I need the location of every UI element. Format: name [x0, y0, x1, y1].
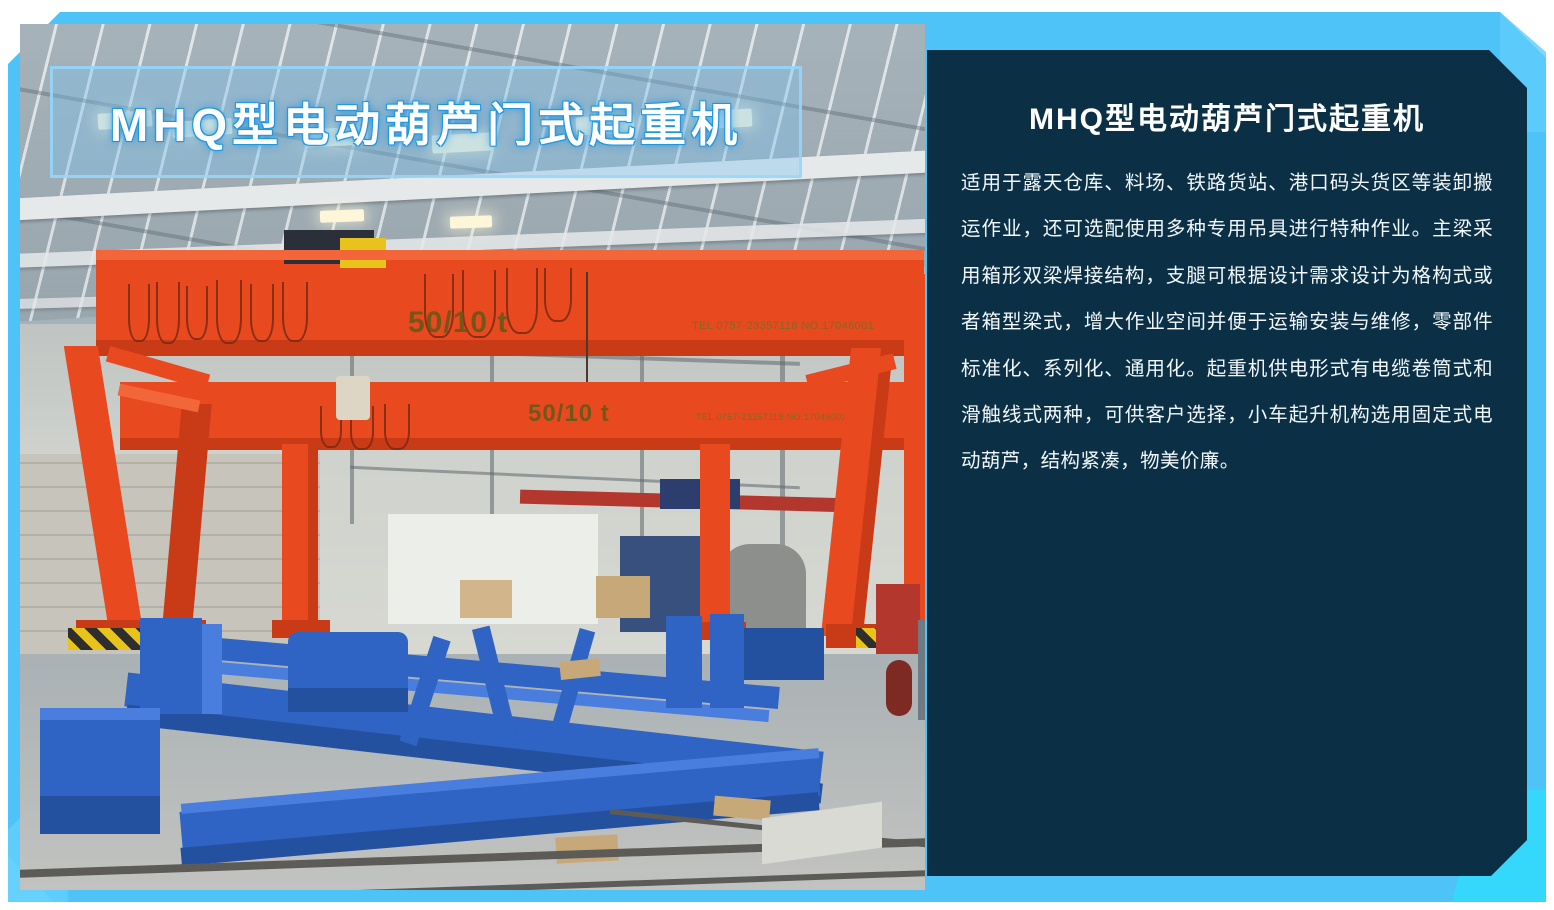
blue-plate-upright — [666, 616, 702, 708]
poster-canvas: 50/10 t TEL 0757-23357118 NO.17046001 50… — [0, 0, 1554, 910]
crane-capacity-label-lower: 50/10 t — [528, 400, 610, 428]
cardboard-box — [460, 580, 512, 618]
blue-plate-upright — [202, 624, 222, 714]
blue-beam-left-stack-top — [40, 708, 160, 720]
cardboard-box — [596, 576, 650, 618]
crane-chain — [186, 286, 208, 340]
ceiling-light — [450, 215, 492, 228]
blue-beam-left-stack-shade — [40, 796, 160, 834]
crane-leg-mid-left-shadow — [308, 444, 318, 626]
crane-chain — [384, 404, 410, 450]
blue-plate-upright-shade — [288, 688, 408, 712]
info-panel: MHQ型电动葫芦门式起重机 适用于露天仓库、料场、铁路货站、港口码头货区等装卸搬… — [927, 50, 1527, 876]
blue-plate-upright — [744, 628, 824, 680]
crane-girder-shadow-lower — [120, 438, 910, 450]
crane-chain — [250, 284, 274, 342]
crane-right-post — [904, 274, 925, 634]
photo-title-plate: MHQ型电动葫芦门式起重机 — [50, 66, 802, 178]
crane-chain — [216, 280, 242, 344]
panel-heading: MHQ型电动葫芦门式起重机 — [961, 94, 1493, 138]
crane-chain — [156, 282, 180, 344]
crane-hook-block — [336, 376, 370, 420]
photo-title-text: MHQ型电动葫芦门式起重机 — [110, 89, 742, 155]
info-panel-content: MHQ型电动葫芦门式起重机 适用于露天仓库、料场、铁路货站、港口码头货区等装卸搬… — [927, 50, 1527, 485]
crane-chain — [128, 284, 150, 342]
crane-chain — [544, 268, 572, 322]
crane-top-rail — [96, 250, 924, 260]
floor-equipment — [918, 620, 925, 720]
blue-plate-upright — [140, 618, 202, 714]
panel-body-text: 适用于露天仓库、料场、铁路货站、港口码头货区等装卸搬运作业，还可选配使用多种专用… — [961, 160, 1493, 485]
crane-girder-shadow — [96, 340, 924, 356]
hydraulic-unit — [876, 584, 920, 654]
crane-capacity-label-upper: 50/10 t — [408, 306, 508, 340]
crane-serial-label-upper: TEL 0757-23357118 NO.17046001 — [692, 320, 874, 332]
hoist-rope — [586, 272, 588, 390]
crane-chain — [282, 282, 308, 342]
product-photo: 50/10 t TEL 0757-23357118 NO.17046001 50… — [20, 24, 925, 890]
ceiling-light — [320, 209, 364, 223]
hydraulic-cylinder — [886, 660, 912, 716]
crane-right-leg-inner — [700, 444, 730, 630]
blue-plate-upright — [710, 614, 744, 708]
crane-serial-label-lower: TEL 0757-23357118 NO.17046002 — [696, 412, 847, 422]
crane-chain — [506, 268, 538, 334]
